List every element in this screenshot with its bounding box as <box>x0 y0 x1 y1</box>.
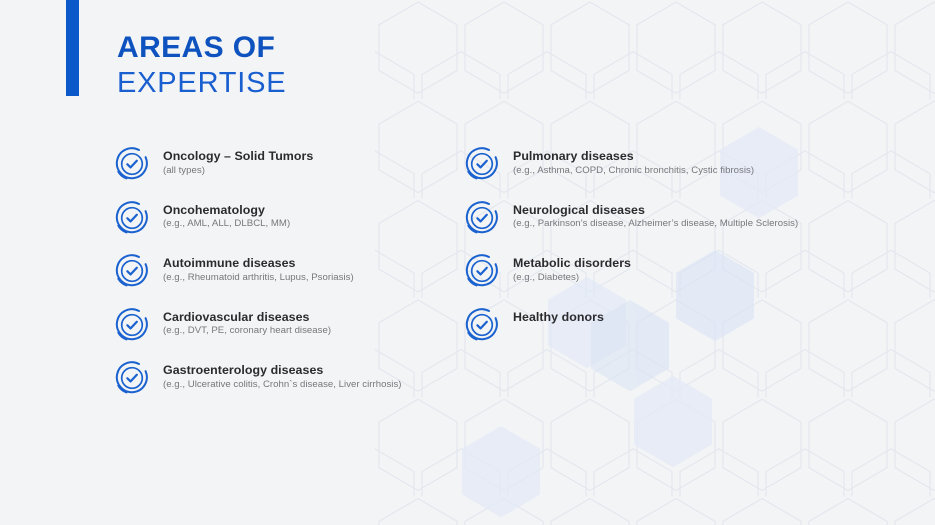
check-circle-icon <box>464 200 500 236</box>
page-title: AREAS OF EXPERTISE <box>117 33 286 98</box>
expertise-list-right: Pulmonary diseases (e.g., Asthma, COPD, … <box>464 145 864 359</box>
list-item-subtitle: (e.g., Asthma, COPD, Chronic bronchitis,… <box>513 165 864 177</box>
list-item: Healthy donors <box>464 306 864 360</box>
list-item-title: Oncohematology <box>163 203 444 218</box>
list-item-subtitle: (e.g., Rheumatoid arthritis, Lupus, Psor… <box>163 272 444 284</box>
check-circle-icon <box>114 307 150 343</box>
list-item: Oncology – Solid Tumors (all types) <box>114 145 444 199</box>
list-item-subtitle: (e.g., Diabetes) <box>513 272 864 284</box>
check-circle-icon <box>114 253 150 289</box>
list-item-subtitle: (e.g., DVT, PE, coronary heart disease) <box>163 325 444 337</box>
list-item-title: Neurological diseases <box>513 203 864 218</box>
list-item: Pulmonary diseases (e.g., Asthma, COPD, … <box>464 145 864 199</box>
list-item: Autoimmune diseases (e.g., Rheumatoid ar… <box>114 252 444 306</box>
list-item: Cardiovascular diseases (e.g., DVT, PE, … <box>114 306 444 360</box>
check-circle-icon <box>464 253 500 289</box>
list-item-subtitle: (e.g., AML, ALL, DLBCL, MM) <box>163 218 444 230</box>
check-circle-icon <box>464 146 500 182</box>
list-item-title: Oncology – Solid Tumors <box>163 149 444 164</box>
list-item-subtitle: (all types) <box>163 165 444 177</box>
list-item: Oncohematology (e.g., AML, ALL, DLBCL, M… <box>114 199 444 253</box>
check-circle-icon <box>114 360 150 396</box>
check-circle-icon <box>464 307 500 343</box>
expertise-list-left: Oncology – Solid Tumors (all types) Onco… <box>114 145 444 413</box>
list-item: Neurological diseases (e.g., Parkinson’s… <box>464 199 864 253</box>
heading-accent-bar <box>66 0 79 96</box>
list-item: Metabolic disorders (e.g., Diabetes) <box>464 252 864 306</box>
page-title-line-2: EXPERTISE <box>117 69 286 98</box>
list-item-subtitle: (e.g., Ulcerative colitis, Crohn`s disea… <box>163 379 444 391</box>
page-title-line-1: AREAS OF <box>117 33 286 63</box>
list-item-subtitle: (e.g., Parkinson’s disease, Alzheimer’s … <box>513 218 864 230</box>
check-circle-icon <box>114 200 150 236</box>
list-item-title: Cardiovascular diseases <box>163 310 444 325</box>
list-item-title: Metabolic disorders <box>513 256 864 271</box>
list-item-title: Healthy donors <box>513 310 864 325</box>
slide-areas-of-expertise: AREAS OF EXPERTISE Oncology – Solid Tumo… <box>0 0 935 525</box>
check-circle-icon <box>114 146 150 182</box>
list-item-title: Pulmonary diseases <box>513 149 864 164</box>
list-item-title: Gastroenterology diseases <box>163 363 444 378</box>
list-item: Gastroenterology diseases (e.g., Ulcerat… <box>114 359 444 413</box>
list-item-title: Autoimmune diseases <box>163 256 444 271</box>
